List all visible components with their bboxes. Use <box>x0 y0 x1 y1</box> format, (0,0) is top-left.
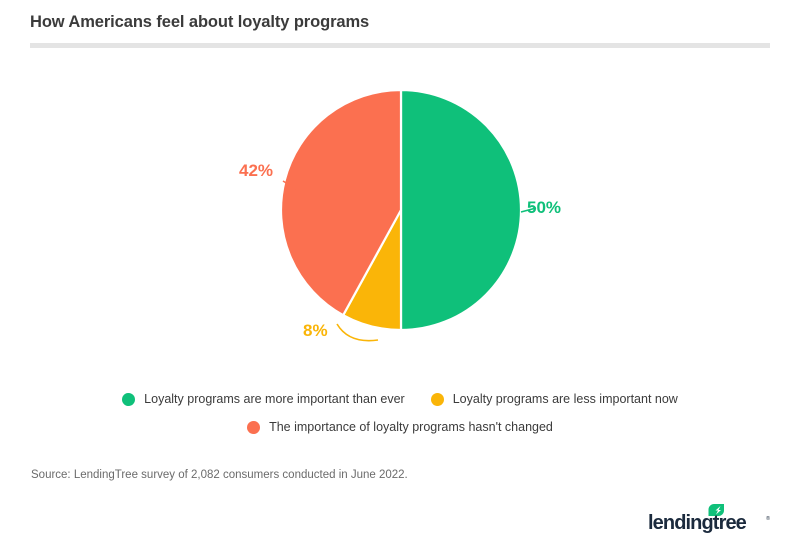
pie-chart-svg <box>0 0 800 380</box>
data-label-50: 50% <box>527 198 561 218</box>
chart-legend: Loyalty programs are more important than… <box>0 385 800 441</box>
data-label-42: 42% <box>239 161 273 181</box>
legend-swatch-green-icon <box>122 393 135 406</box>
registered-trademark-icon: ® <box>766 515 770 522</box>
legend-label-more-important: Loyalty programs are more important than… <box>144 392 405 406</box>
legend-label-unchanged: The importance of loyalty programs hasn'… <box>269 420 553 434</box>
legend-item-more-important[interactable]: Loyalty programs are more important than… <box>122 392 405 406</box>
legend-row-1: Loyalty programs are more important than… <box>0 385 800 413</box>
legend-label-less-important: Loyalty programs are less important now <box>453 392 678 406</box>
pie-chart <box>0 0 800 380</box>
pie-slice-more-important[interactable] <box>401 90 521 330</box>
chart-canvas: How Americans feel about loyalty program… <box>0 0 800 545</box>
legend-row-2: The importance of loyalty programs hasn'… <box>0 413 800 441</box>
lendingtree-logo: lendingtree ® <box>648 503 772 535</box>
legend-swatch-amber-icon <box>431 393 444 406</box>
legend-swatch-coral-icon <box>247 421 260 434</box>
data-label-8: 8% <box>303 321 328 341</box>
legend-item-unchanged[interactable]: The importance of loyalty programs hasn'… <box>247 420 553 434</box>
logo-wordmark: lendingtree <box>648 512 747 534</box>
source-note: Source: LendingTree survey of 2,082 cons… <box>31 469 408 481</box>
legend-item-less-important[interactable]: Loyalty programs are less important now <box>431 392 678 406</box>
